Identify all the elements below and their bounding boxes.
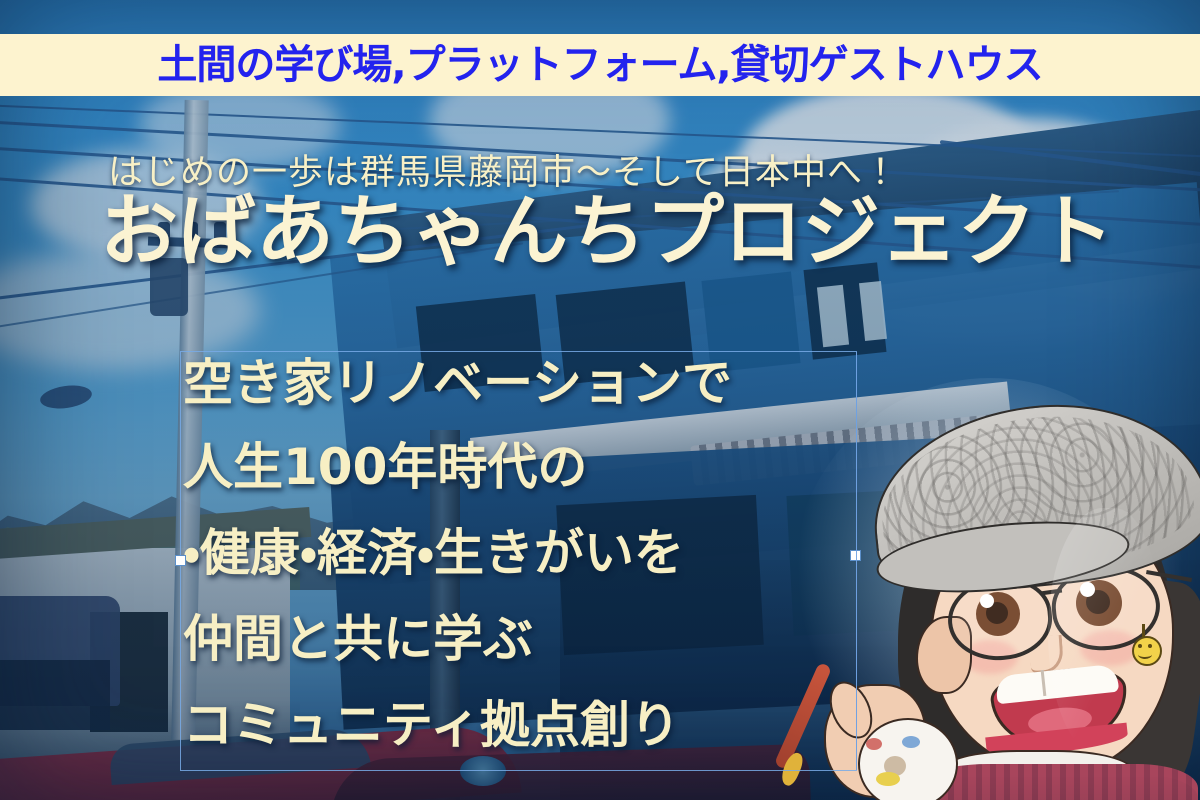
body-text-box[interactable]: 空き家リノベーションで 人生100年時代の ・健康・経済・生きがいを 仲間と共に… bbox=[181, 352, 856, 770]
palette-paint-blue bbox=[902, 736, 920, 748]
smiley-eye bbox=[1138, 644, 1142, 648]
body-text-line: ・健康・経済・生きがいを bbox=[183, 528, 684, 578]
top-banner: 土間の学び場,プラットフォーム,貸切ゲストハウス bbox=[0, 34, 1200, 96]
paint-palette bbox=[858, 718, 958, 800]
selection-guide-line bbox=[856, 352, 857, 770]
body-text-line: 仲間と共に学ぶ bbox=[183, 614, 533, 664]
smiley-eye bbox=[1148, 644, 1152, 648]
campaign-banner-canvas: 土間の学び場,プラットフォーム,貸切ゲストハウス はじめの一歩は群馬県藤岡市〜そ… bbox=[0, 0, 1200, 800]
smiley-mouth bbox=[1138, 650, 1152, 659]
body-text-line: 人生100年時代の bbox=[183, 442, 587, 492]
body-text-line: 空き家リノベーションで bbox=[183, 358, 732, 408]
palette-paint-red bbox=[866, 738, 882, 750]
palette-paint-yellow bbox=[876, 772, 900, 786]
headline-title: おばあちゃんちプロジェクト bbox=[100, 192, 1114, 274]
top-banner-text: 土間の学び場,プラットフォーム,貸切ゲストハウス bbox=[157, 45, 1042, 85]
selection-handle-left[interactable] bbox=[175, 555, 186, 566]
body-text-line: コミュニティ拠点創り bbox=[183, 700, 680, 750]
